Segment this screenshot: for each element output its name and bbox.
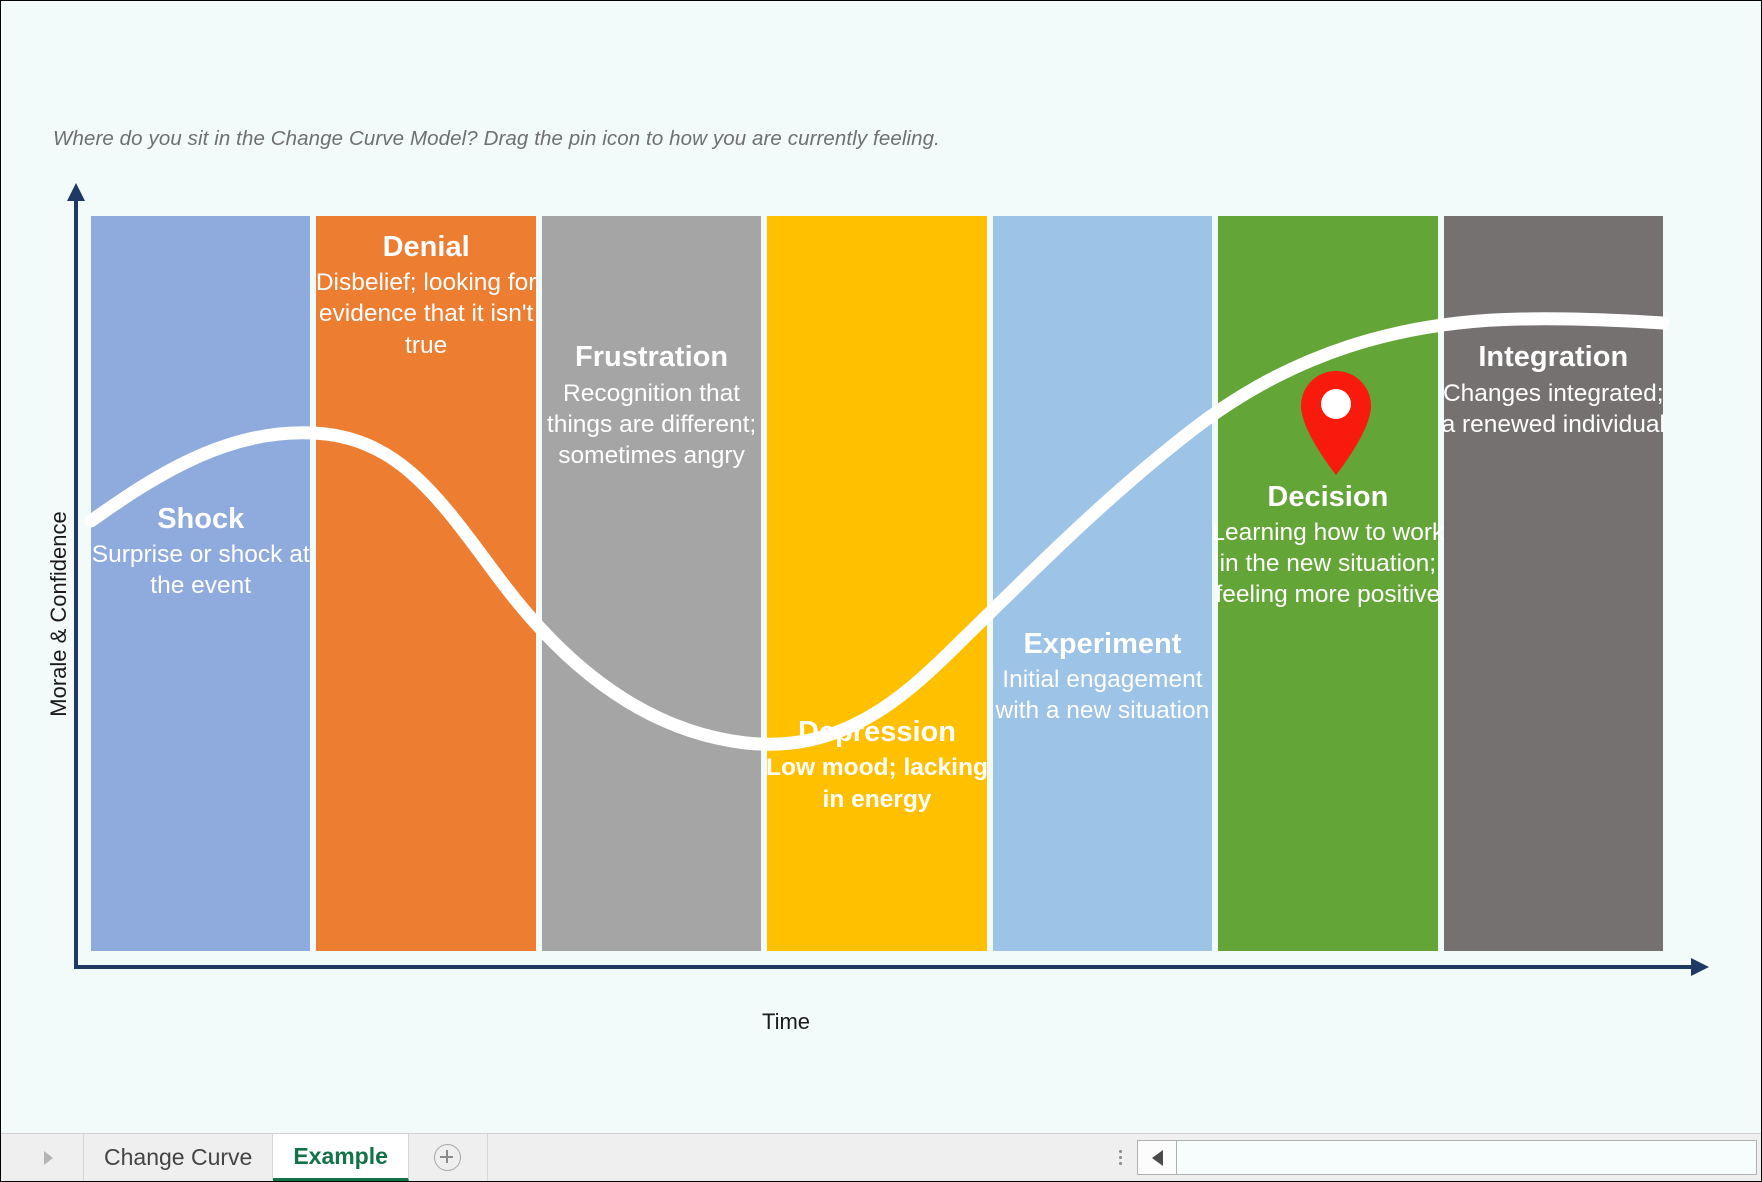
- y-axis-arrow-icon: [67, 183, 85, 201]
- map-pin-icon[interactable]: [1297, 369, 1375, 477]
- stage-description: Initial engagement with a new situation: [983, 664, 1222, 726]
- stage-panel-denial[interactable]: DenialDisbelief; looking for evidence th…: [316, 216, 535, 951]
- stage-label-group: DepressionLow mood; lacking in energy: [755, 716, 998, 815]
- x-axis-arrow-icon: [1691, 958, 1709, 976]
- stage-description: Learning how to work in the new situatio…: [1208, 517, 1447, 610]
- stage-panels: ShockSurprise or shock at the eventDenia…: [91, 216, 1663, 951]
- stage-description: Changes integrated; a renewed individual: [1434, 378, 1673, 440]
- sheet-tab-label: Change Curve: [104, 1144, 252, 1171]
- excel-worksheet-window: Where do you sit in the Change Curve Mod…: [0, 0, 1762, 1182]
- dot: [1119, 1150, 1122, 1153]
- stage-panel-frustration[interactable]: FrustrationRecognition that things are d…: [542, 216, 761, 951]
- y-axis-label: Morale & Confidence: [46, 494, 72, 734]
- stage-description: Surprise or shock at the event: [81, 539, 320, 601]
- stage-panel-depression[interactable]: DepressionLow mood; lacking in energy: [767, 216, 986, 951]
- sheet-tab-example[interactable]: Example: [273, 1134, 409, 1181]
- stage-label-group: DecisionLearning how to work in the new …: [1206, 481, 1449, 611]
- sheet-tab-label: Example: [293, 1143, 388, 1170]
- stage-title: Frustration: [532, 341, 771, 375]
- x-axis-label: Time: [1, 1009, 1762, 1035]
- drag-handle-icon[interactable]: [1103, 1134, 1137, 1181]
- stage-panel-shock[interactable]: ShockSurprise or shock at the event: [91, 216, 310, 951]
- x-axis-line: [74, 965, 1694, 969]
- scroll-left-icon[interactable]: [1137, 1140, 1177, 1175]
- sheet-nav-right-triangle-icon: [44, 1151, 53, 1165]
- dot: [1119, 1156, 1122, 1159]
- stage-title: Depression: [757, 716, 996, 750]
- worksheet-canvas[interactable]: Where do you sit in the Change Curve Mod…: [1, 1, 1762, 1136]
- scrollbar-track[interactable]: [1177, 1140, 1757, 1175]
- tab-bar-filler: [488, 1134, 1103, 1181]
- change-curve-chart: Morale & Confidence Time ShockSurprise o…: [1, 1, 1762, 1061]
- stage-title: Decision: [1208, 481, 1447, 515]
- stage-description: Low mood; lacking in energy: [757, 752, 996, 814]
- horizontal-scrollbar[interactable]: [1137, 1134, 1762, 1181]
- sheet-tab-change-curve[interactable]: Change Curve: [84, 1134, 273, 1181]
- stage-title: Integration: [1434, 341, 1673, 375]
- add-sheet-button[interactable]: [409, 1134, 488, 1181]
- stage-label-group: DenialDisbelief; looking for evidence th…: [304, 231, 547, 361]
- stage-description: Recognition that things are different; s…: [532, 378, 771, 471]
- stage-panel-decision[interactable]: DecisionLearning how to work in the new …: [1218, 216, 1437, 951]
- stage-label-group: ShockSurprise or shock at the event: [79, 503, 322, 602]
- dot: [1119, 1162, 1122, 1165]
- sheet-tab-bar: Change Curve Example: [1, 1133, 1762, 1181]
- sheet-nav-right-icon[interactable]: [1, 1134, 84, 1181]
- stage-label-group: ExperimentInitial engagement with a new …: [981, 628, 1224, 727]
- stage-title: Experiment: [983, 628, 1222, 662]
- scroll-left-triangle-icon: [1152, 1150, 1163, 1166]
- stage-label-group: FrustrationRecognition that things are d…: [530, 341, 773, 471]
- stage-panel-experiment[interactable]: ExperimentInitial engagement with a new …: [993, 216, 1212, 951]
- stage-panel-integration[interactable]: IntegrationChanges integrated; a renewed…: [1444, 216, 1663, 951]
- x-axis-label-text: Time: [762, 1009, 810, 1034]
- stage-description: Disbelief; looking for evidence that it …: [306, 267, 545, 360]
- stage-title: Shock: [81, 503, 320, 537]
- stage-label-group: IntegrationChanges integrated; a renewed…: [1432, 341, 1675, 440]
- add-sheet-icon: [434, 1144, 461, 1171]
- y-axis-line: [74, 197, 78, 969]
- stage-title: Denial: [306, 231, 545, 265]
